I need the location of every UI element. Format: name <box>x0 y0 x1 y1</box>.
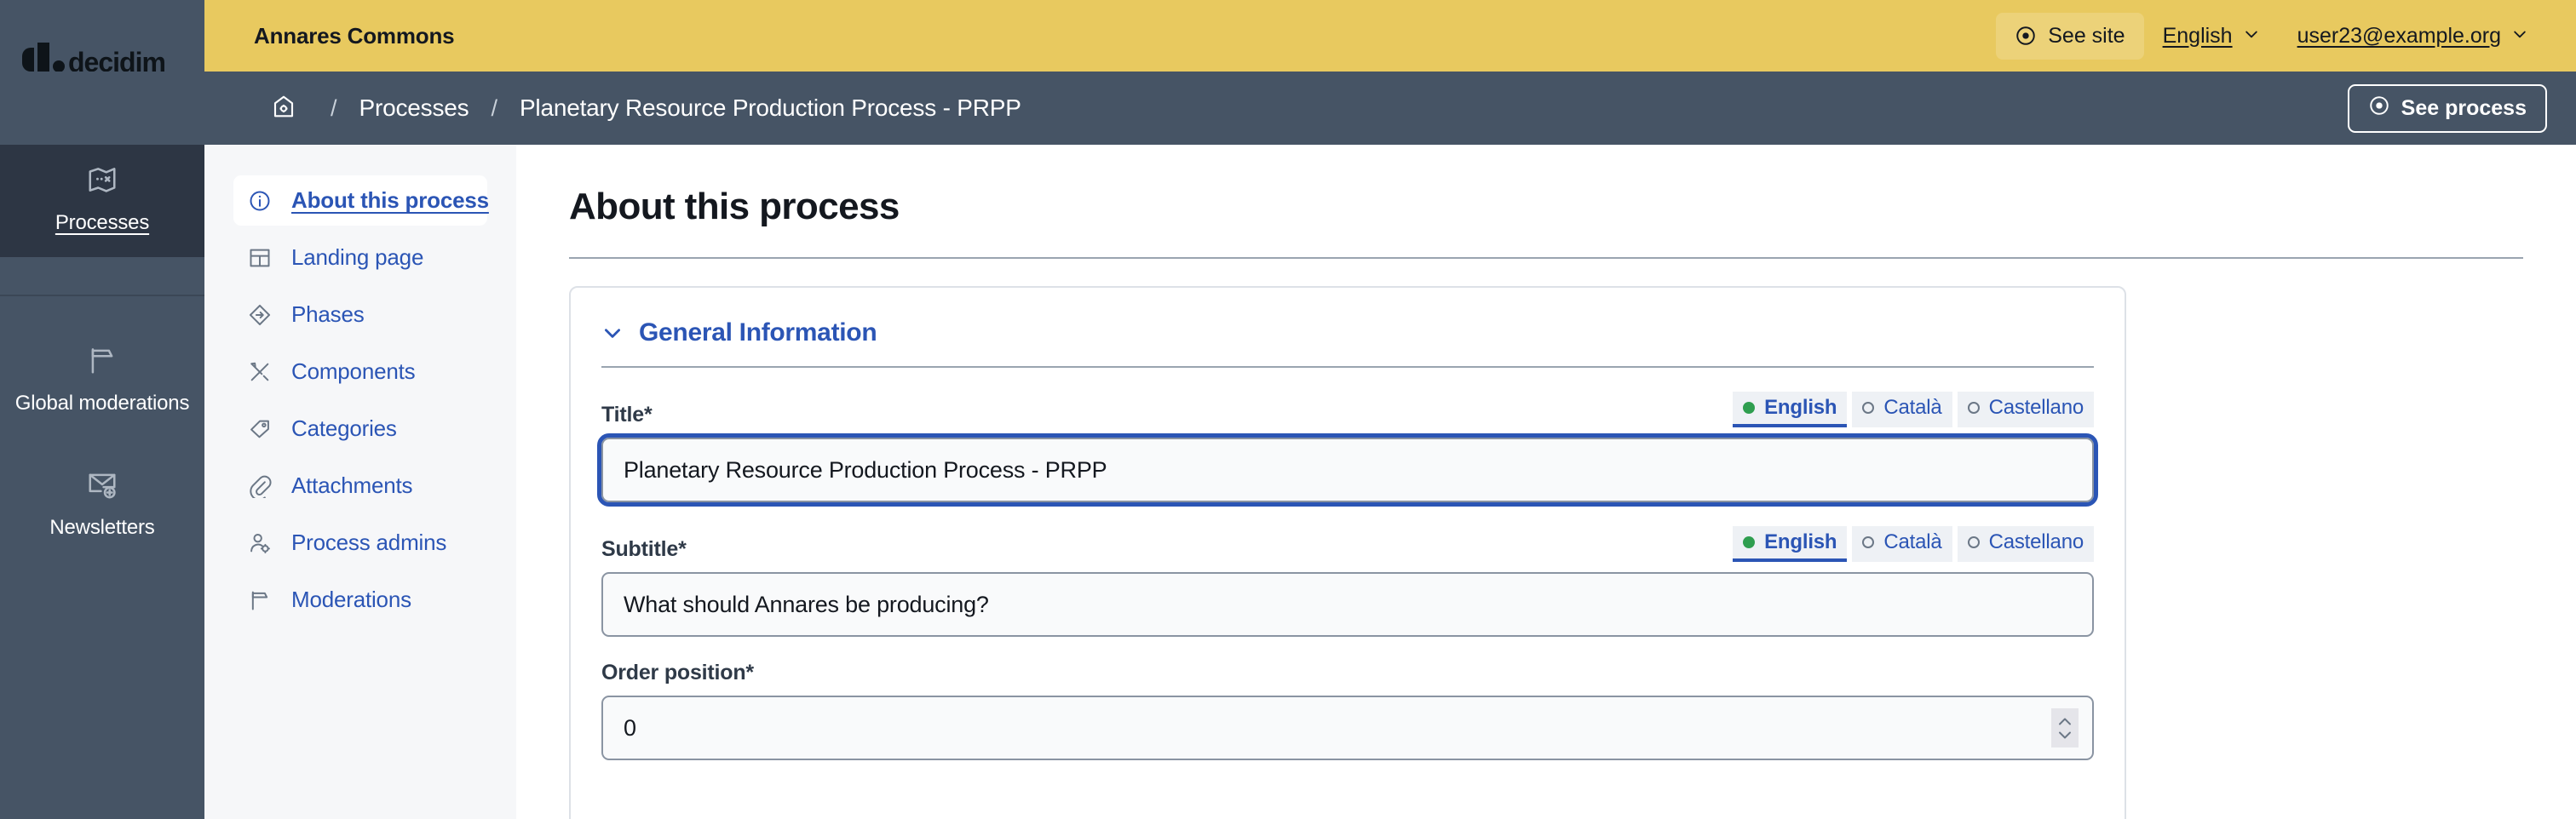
top-bar: decidim free open-source democracy Annar… <box>0 0 2576 72</box>
see-site-button[interactable]: See site <box>1996 13 2143 60</box>
lang-tab-castellano[interactable]: Castellano <box>1958 526 2094 562</box>
see-process-button[interactable]: See process <box>2348 84 2547 133</box>
sidebar-label-about-this-process: About this process <box>291 187 489 214</box>
flag-icon <box>86 344 118 381</box>
chevron-down-icon <box>2511 24 2528 49</box>
chevron-up-icon <box>2057 717 2073 726</box>
lang-tab-english[interactable]: English <box>1733 526 1847 562</box>
chevron-down-icon <box>2243 24 2260 49</box>
main-content: About this process General Information T… <box>516 145 2576 819</box>
language-tabs-subtitle: English Català Castellano <box>1733 526 2094 562</box>
section-divider <box>601 366 2094 368</box>
flag-icon <box>247 587 273 613</box>
empty-dot-icon <box>1862 536 1874 548</box>
general-information-card: General Information Title* English Catal… <box>569 286 2126 819</box>
field-label-title: Title* <box>601 403 652 427</box>
empty-dot-icon <box>1968 536 1980 548</box>
user-settings-icon <box>247 530 273 556</box>
order-position-input[interactable]: 0 <box>601 696 2094 760</box>
section-title: General Information <box>639 318 877 347</box>
subtitle-input[interactable]: What should Annares be producing? <box>601 572 2094 637</box>
field-subtitle: Subtitle* English Català Castellano <box>601 526 2094 637</box>
tag-icon <box>247 416 273 442</box>
rail-label-global-moderations: Global moderations <box>15 392 190 415</box>
eye-icon <box>2015 25 2037 47</box>
paperclip-icon <box>247 473 273 499</box>
lang-tab-label-english: English <box>1764 530 1837 554</box>
sidebar-item-moderations[interactable]: Moderations <box>233 575 487 625</box>
chevron-down-icon <box>601 322 624 344</box>
field-order-position: Order position* 0 <box>601 661 2094 760</box>
eye-icon <box>2368 94 2390 123</box>
breadcrumb-separator: / <box>308 95 359 122</box>
sidebar-item-categories[interactable]: Categories <box>233 404 487 454</box>
breadcrumb: / Processes / Planetary Resource Product… <box>204 94 2348 123</box>
language-label: English <box>2163 24 2233 49</box>
sidebar-label-categories: Categories <box>291 415 397 442</box>
breadcrumb-item-current: Planetary Resource Production Process - … <box>520 94 1021 122</box>
subtitle-input-value: What should Annares be producing? <box>624 592 989 618</box>
top-bar-main: Annares Commons See site English <box>204 0 2576 72</box>
info-icon <box>247 188 273 214</box>
organization-title: Annares Commons <box>254 23 454 49</box>
user-label: user23@example.org <box>2297 24 2501 49</box>
rail-item-newsletters[interactable]: Newsletters <box>0 438 204 562</box>
lang-tab-label-english: English <box>1764 396 1837 420</box>
empty-dot-icon <box>1862 402 1874 414</box>
see-process-label: See process <box>2401 96 2527 121</box>
title-input[interactable]: Planetary Resource Production Process - … <box>601 438 2094 502</box>
field-title: Title* English Català Castellano <box>601 392 2094 502</box>
sidebar-item-landing-page[interactable]: Landing page <box>233 232 487 283</box>
empty-dot-icon <box>1968 402 1980 414</box>
breadcrumb-home-link[interactable] <box>259 94 308 123</box>
primary-nav-rail: Processes Global moderations Newsletters <box>0 145 204 819</box>
logo-zone: decidim free open-source democracy <box>0 0 204 72</box>
mail-add-icon <box>86 468 118 505</box>
rail-label-processes: Processes <box>55 211 149 235</box>
home-icon <box>271 94 296 123</box>
field-order-position-row: Order position* <box>601 661 2094 685</box>
layout-icon <box>247 245 273 271</box>
filled-dot-icon <box>1743 402 1755 414</box>
sidebar-item-process-admins[interactable]: Process admins <box>233 518 487 568</box>
title-input-value: Planetary Resource Production Process - … <box>624 457 1107 484</box>
sidebar-label-components: Components <box>291 358 415 385</box>
lang-tab-label-catala: Català <box>1883 530 1941 554</box>
top-bar-actions: See site English user23@example.org <box>1996 13 2547 60</box>
lang-tab-english[interactable]: English <box>1733 392 1847 427</box>
order-position-input-value: 0 <box>624 715 636 742</box>
sidebar-label-phases: Phases <box>291 301 365 328</box>
see-site-label: See site <box>2048 24 2125 49</box>
rail-item-processes[interactable]: Processes <box>0 145 204 257</box>
lang-tab-castellano[interactable]: Castellano <box>1958 392 2094 427</box>
rail-label-newsletters: Newsletters <box>49 516 154 540</box>
lang-tab-catala[interactable]: Català <box>1852 526 1952 562</box>
sidebar-label-attachments: Attachments <box>291 472 412 499</box>
page-title: About this process <box>569 186 2523 228</box>
sidebar-label-moderations: Moderations <box>291 587 411 613</box>
lang-tab-label-castellano: Castellano <box>1989 396 2084 420</box>
general-information-toggle[interactable]: General Information <box>601 318 2094 347</box>
map-icon <box>86 163 118 200</box>
rail-item-global-moderations[interactable]: Global moderations <box>0 296 204 438</box>
sidebar-item-phases[interactable]: Phases <box>233 289 487 340</box>
secondary-nav: About this process Landing page Phases <box>204 145 516 819</box>
tools-icon <box>247 359 273 385</box>
breadcrumb-separator: / <box>469 95 520 122</box>
sidebar-label-landing-page: Landing page <box>291 244 423 271</box>
title-divider <box>569 257 2523 259</box>
field-label-order-position: Order position* <box>601 661 754 685</box>
lang-tab-label-catala: Català <box>1883 396 1941 420</box>
rail-spacer <box>0 257 204 295</box>
user-menu[interactable]: user23@example.org <box>2279 13 2547 60</box>
language-selector[interactable]: English <box>2144 13 2279 60</box>
sidebar-item-attachments[interactable]: Attachments <box>233 461 487 511</box>
sidebar-label-process-admins: Process admins <box>291 530 446 556</box>
number-stepper[interactable] <box>2051 708 2079 747</box>
language-tabs-title: English Català Castellano <box>1733 392 2094 427</box>
phases-icon <box>247 302 273 328</box>
field-label-subtitle: Subtitle* <box>601 537 687 562</box>
breadcrumb-bar: / Processes / Planetary Resource Product… <box>0 72 2576 145</box>
field-subtitle-row: Subtitle* English Català Castellano <box>601 526 2094 562</box>
sidebar-item-components[interactable]: Components <box>233 346 487 397</box>
breadcrumb-item-processes[interactable]: Processes <box>359 94 469 122</box>
filled-dot-icon <box>1743 536 1755 548</box>
lang-tab-label-castellano: Castellano <box>1989 530 2084 554</box>
chevron-down-icon <box>2057 730 2073 740</box>
lang-tab-catala[interactable]: Català <box>1852 392 1952 427</box>
field-title-row: Title* English Català Castellano <box>601 392 2094 427</box>
sidebar-item-about-this-process[interactable]: About this process <box>233 175 487 226</box>
admin-page: decidim free open-source democracy Annar… <box>0 0 2576 819</box>
